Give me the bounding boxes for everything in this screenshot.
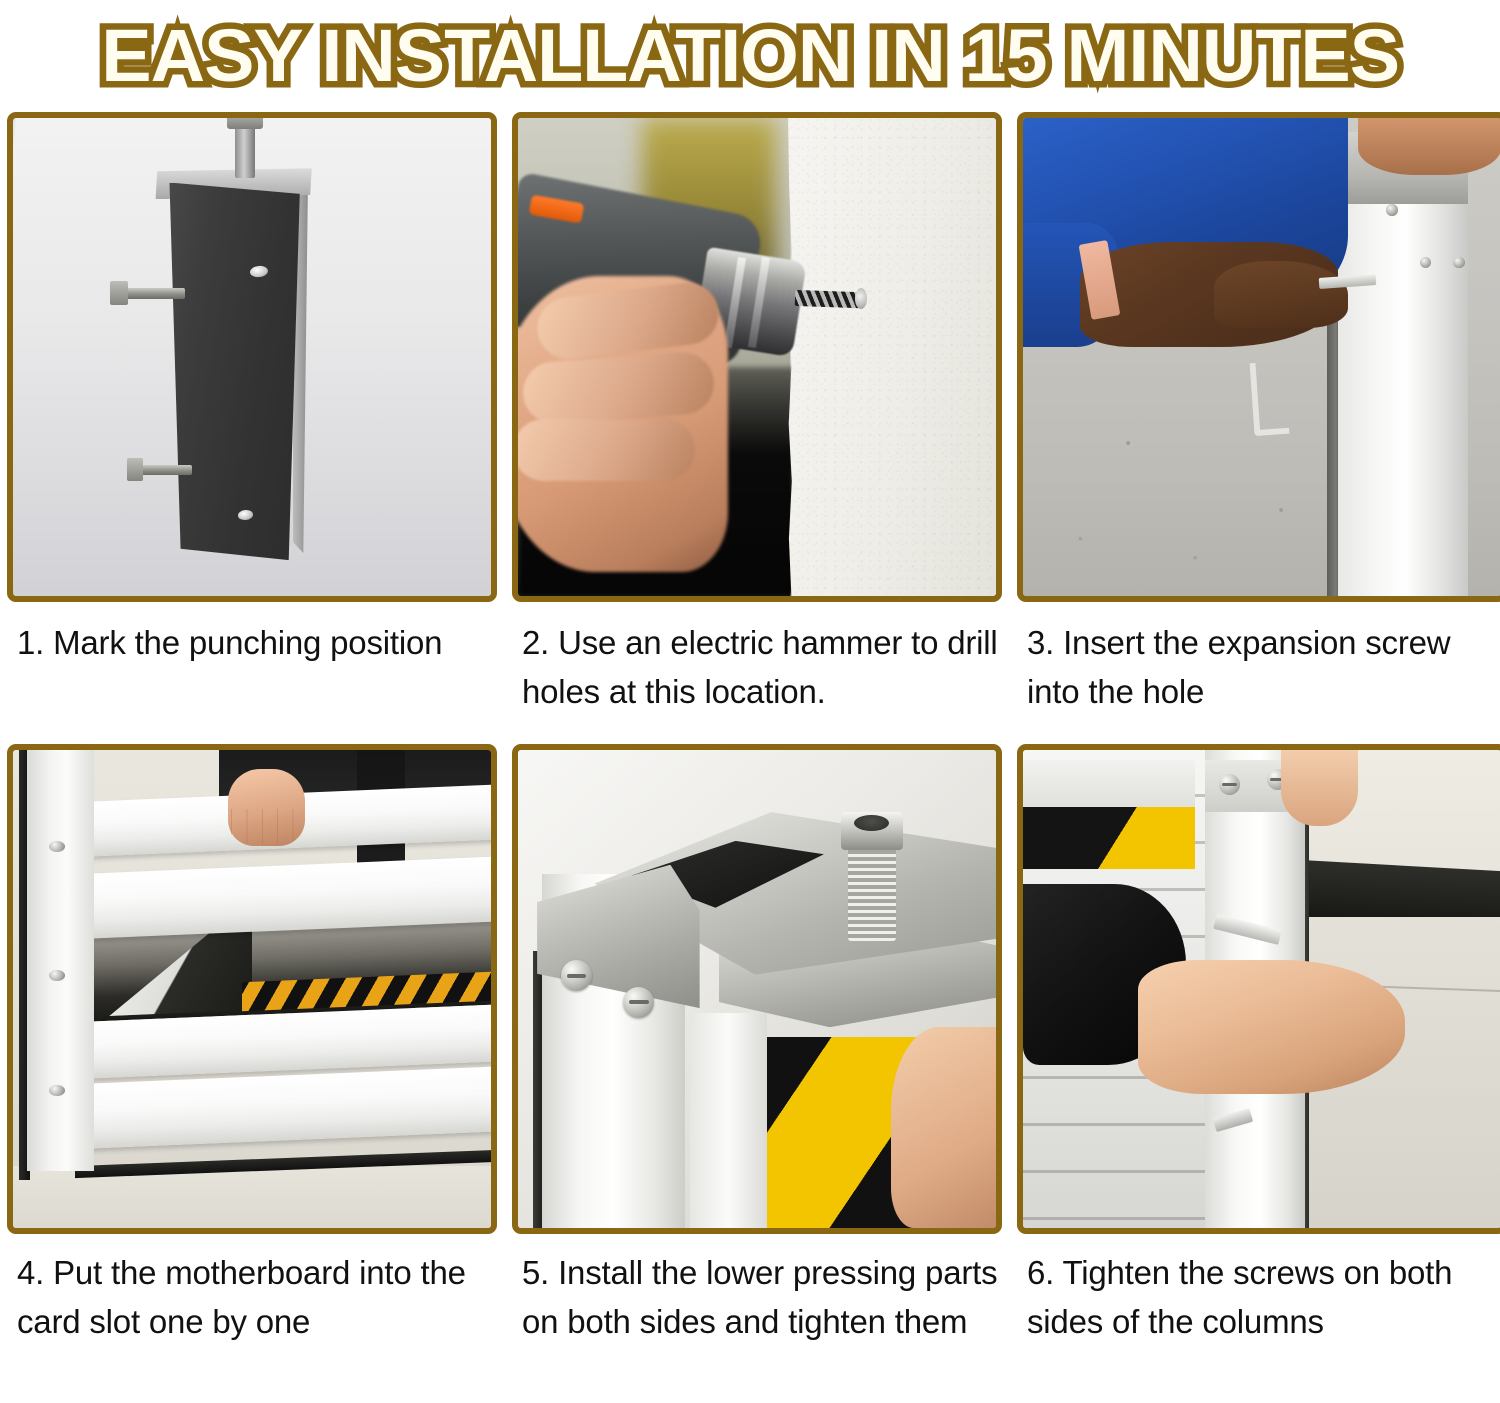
white-side-post xyxy=(27,750,94,1171)
installer-hand-left xyxy=(1138,960,1406,1094)
installer-hand-right xyxy=(1281,750,1357,826)
column-screw-3 xyxy=(1453,257,1464,268)
photo-insert-motherboard-into-slot xyxy=(13,750,491,1228)
column-screw-1 xyxy=(1386,204,1397,215)
step-1-photo-frame xyxy=(7,112,497,602)
installer-hand xyxy=(891,1027,996,1228)
worker-fingers xyxy=(1214,261,1348,328)
masonry-drill-bit xyxy=(795,290,860,308)
step-1-caption: 1. Mark the punching position xyxy=(7,602,497,732)
white-aluminium-column xyxy=(1338,142,1467,596)
white-barrier-panel xyxy=(690,1013,766,1228)
photo-insert-expansion-screw xyxy=(1023,118,1500,596)
title-banner: EASY INSTALLATION IN 15 MINUTES xyxy=(0,0,1500,112)
step-4-caption: 4. Put the motherboard into the card slo… xyxy=(7,1234,497,1382)
photo-mark-punching-position xyxy=(13,118,491,596)
step-5-photo-frame xyxy=(512,744,1002,1234)
finger-3 xyxy=(518,419,695,481)
step-4-photo-frame xyxy=(7,744,497,1234)
step-3-caption: 3. Insert the expansion screw into the h… xyxy=(1017,602,1500,732)
step-card-4: 4. Put the motherboard into the card slo… xyxy=(7,732,497,1382)
page-title: EASY INSTALLATION IN 15 MINUTES xyxy=(95,19,1405,93)
lower-marking-bolt xyxy=(135,465,192,476)
photo-tighten-screws-on-columns xyxy=(1023,750,1500,1228)
step-card-2: 2. Use an electric hammer to drill holes… xyxy=(512,112,1002,732)
cap-screw-1 xyxy=(1219,774,1240,795)
step-card-6: 6. Tighten the screws on both sides of t… xyxy=(1017,732,1500,1382)
step-2-caption: 2. Use an electric hammer to drill holes… xyxy=(512,602,1002,732)
step-5-caption: 5. Install the lower pressing parts on b… xyxy=(512,1234,1002,1382)
step-card-3: 3. Insert the expansion screw into the h… xyxy=(1017,112,1500,732)
step-6-caption: 6. Tighten the screws on both sides of t… xyxy=(1017,1234,1500,1382)
step-2-photo-frame xyxy=(512,112,1002,602)
photo-drill-holes-in-wall xyxy=(518,118,996,596)
step-card-1: 1. Mark the punching position xyxy=(7,112,497,732)
upper-marking-bolt xyxy=(118,288,185,299)
worker-second-hand xyxy=(1358,118,1500,175)
post-screw-3 xyxy=(49,1085,65,1096)
installation-steps-grid: 1. Mark the punching position xyxy=(0,112,1500,1382)
bracket-screw-2 xyxy=(623,987,654,1018)
dark-grey-column-post xyxy=(161,183,300,561)
photo-install-lower-pressing-parts xyxy=(518,750,996,1228)
white-textured-wall xyxy=(788,118,996,596)
threaded-bolt-head xyxy=(841,812,903,850)
hazard-stripe-tape xyxy=(1023,807,1195,869)
step-3-photo-frame xyxy=(1017,112,1500,602)
top-stud-bolt xyxy=(235,125,255,178)
installer-hand xyxy=(228,769,304,845)
step-6-photo-frame xyxy=(1017,744,1500,1234)
allen-key-on-floor xyxy=(1250,361,1290,436)
barrier-top-edge xyxy=(1023,760,1195,808)
step-card-5: 5. Install the lower pressing parts on b… xyxy=(512,732,1002,1382)
